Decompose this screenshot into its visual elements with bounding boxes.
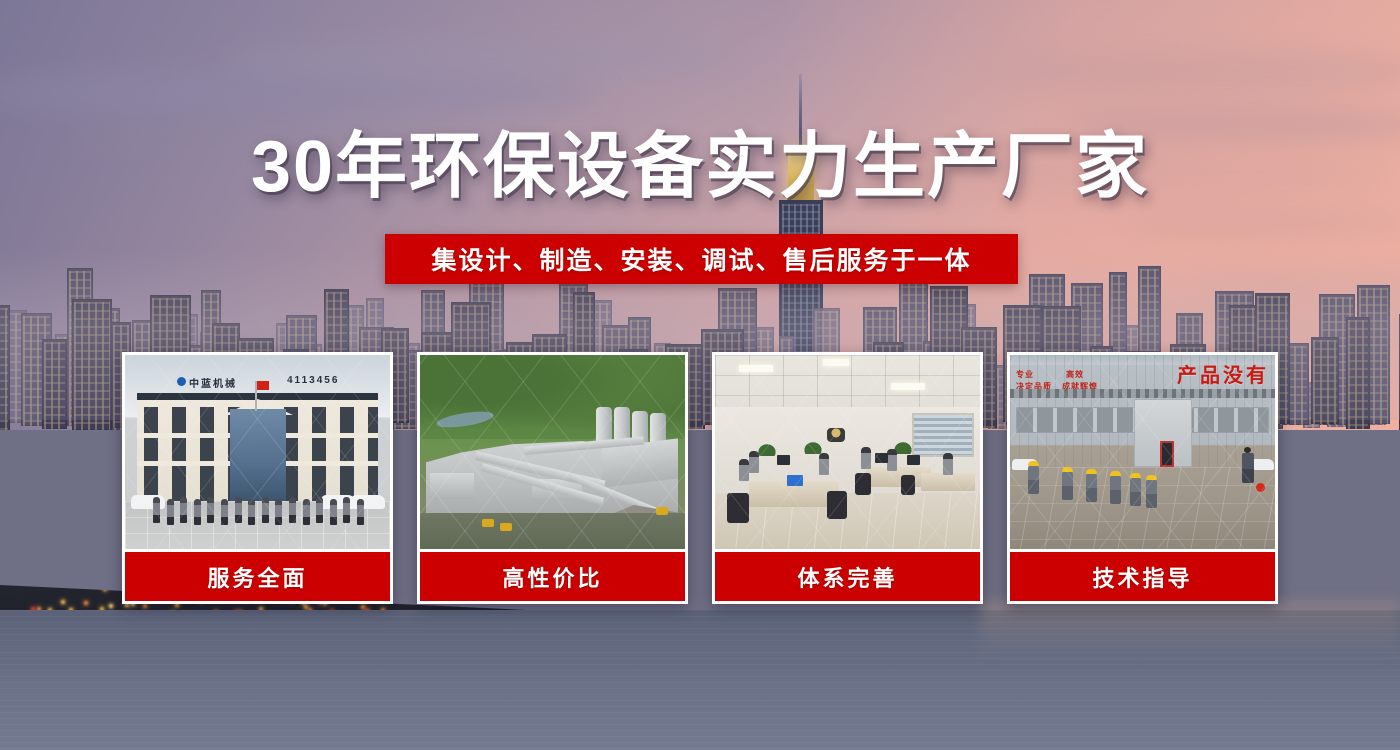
- staff-member: [153, 497, 160, 523]
- staff-member: [289, 497, 296, 523]
- office-worker: [819, 453, 829, 475]
- card-photo-workers-factory: 产品没有 专业 决定品质 高效 成就辉煌: [1010, 355, 1275, 549]
- worker-body: [1130, 478, 1141, 506]
- feature-card[interactable]: 中蓝机械 4113456 服务全面: [122, 352, 393, 604]
- factory-worker: [1130, 473, 1141, 506]
- office-desk: [921, 473, 975, 491]
- factory-worker: [1028, 461, 1039, 494]
- excavator: [656, 507, 668, 515]
- ceiling-light: [891, 383, 925, 390]
- staff-member: [248, 499, 255, 525]
- ceiling-light: [739, 365, 773, 372]
- supervisor-body: [1242, 453, 1254, 483]
- supervisor: [1242, 447, 1254, 483]
- company-logo-icon: [177, 377, 186, 386]
- staff-member: [316, 497, 323, 523]
- feature-card-list: 中蓝机械 4113456 服务全面: [122, 352, 1278, 604]
- staff-member: [262, 497, 269, 523]
- office-chair: [855, 473, 871, 495]
- staff-member: [303, 499, 310, 525]
- factory-slogan-small: 高效: [1066, 369, 1084, 380]
- ceiling-light: [823, 359, 849, 366]
- staff-member: [330, 499, 337, 525]
- computer-monitor: [907, 455, 920, 465]
- factory-hall: [430, 473, 474, 499]
- staff-member: [207, 497, 214, 523]
- worker-body: [1062, 472, 1073, 500]
- office-chair: [827, 491, 847, 519]
- building-entrance: [230, 409, 286, 501]
- worker-body: [1110, 476, 1121, 504]
- potted-plant: [803, 441, 823, 454]
- card-photo-office-interior: [715, 355, 980, 549]
- building-sign-name: 中蓝机械: [189, 375, 237, 390]
- worker-body: [1086, 474, 1097, 502]
- banner-content: 30年环保设备实力生产厂家 集设计、制造、安装、调试、售后服务于一体 中蓝机械 …: [0, 0, 1400, 750]
- worker-body: [1028, 466, 1039, 494]
- building-sign-phone: 4113456: [287, 375, 339, 386]
- computer-monitor: [777, 455, 790, 465]
- excavator: [482, 519, 494, 527]
- subtitle-banner: 集设计、制造、安装、调试、售后服务于一体: [385, 234, 1018, 284]
- feature-card[interactable]: 高性价比: [417, 352, 688, 604]
- feature-card[interactable]: 体系完善: [712, 352, 983, 604]
- card-caption: 体系完善: [715, 552, 980, 601]
- factory-yard: [1010, 467, 1275, 549]
- plant-yard: [420, 513, 685, 549]
- staff-member: [275, 499, 282, 525]
- staff-member: [343, 497, 350, 523]
- staff-member: [357, 499, 364, 525]
- staff-member: [167, 499, 174, 525]
- staff-member: [235, 497, 242, 523]
- card-caption: 服务全面: [125, 552, 390, 601]
- laptop: [787, 475, 803, 486]
- office-worker: [861, 447, 871, 469]
- factory-worker: [1086, 469, 1097, 502]
- office-chair: [901, 475, 915, 495]
- factory-door: [1160, 441, 1174, 467]
- factory-slogan-large: 产品没有: [1177, 359, 1269, 388]
- office-worker: [887, 449, 897, 471]
- red-helmet-icon: [1256, 483, 1265, 492]
- office-worker: [943, 453, 953, 475]
- potted-plant: [757, 443, 777, 456]
- facade-band: [1010, 389, 1275, 398]
- window-blinds: [912, 413, 974, 457]
- factory-worker: [1146, 475, 1157, 508]
- storage-silo: [596, 407, 612, 443]
- card-caption-text: 服务全面: [207, 561, 307, 593]
- card-photo-office-building: 中蓝机械 4113456: [125, 355, 390, 549]
- factory-worker: [1062, 467, 1073, 500]
- worker-body: [1146, 480, 1157, 508]
- card-caption-text: 体系完善: [797, 561, 897, 593]
- china-flag-icon: [257, 381, 269, 390]
- subtitle-text: 集设计、制造、安装、调试、售后服务于一体: [431, 241, 971, 277]
- factory-slogan-small: 专业: [1016, 369, 1034, 380]
- staff-member: [221, 499, 228, 525]
- card-photo-aerial-plant: [420, 355, 685, 549]
- storage-silo: [650, 413, 666, 443]
- computer-monitor: [875, 453, 888, 463]
- factory-window-row: [1016, 407, 1136, 433]
- card-caption-text: 高性价比: [502, 561, 602, 593]
- card-caption: 高性价比: [420, 552, 685, 601]
- card-caption: 技术指导: [1010, 552, 1275, 601]
- office-worker: [749, 451, 759, 473]
- headline-title: 30年环保设备实力生产厂家: [0, 128, 1400, 206]
- factory-worker: [1110, 471, 1121, 504]
- staff-member: [180, 497, 187, 523]
- excavator: [500, 523, 512, 531]
- decal-figure-icon: [827, 428, 845, 442]
- office-chair: [727, 493, 749, 523]
- office-worker: [739, 459, 749, 481]
- feature-card[interactable]: 产品没有 专业 决定品质 高效 成就辉煌: [1007, 352, 1278, 604]
- staff-member: [194, 499, 201, 525]
- card-caption-text: 技术指导: [1092, 561, 1192, 593]
